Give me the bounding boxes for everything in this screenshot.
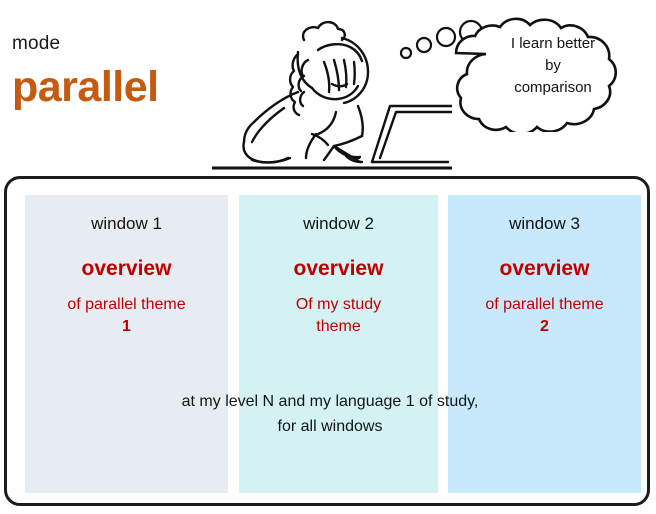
window-1-theme-number: 1 bbox=[29, 316, 224, 338]
window-2-heading: overview bbox=[239, 258, 438, 279]
window-3-heading: overview bbox=[448, 258, 641, 279]
window-panel-1[interactable]: window 1 overview of parallel theme 1 bbox=[25, 195, 228, 493]
window-2-sub-line-2: theme bbox=[243, 316, 434, 338]
window-2-sub-line: Of my study bbox=[296, 296, 381, 313]
windows-container: window 1 overview of parallel theme 1 wi… bbox=[4, 176, 650, 506]
thought-bubble-line-2: by bbox=[478, 55, 628, 77]
header: mode parallel bbox=[0, 0, 656, 175]
thought-bubble-line-1: I learn better bbox=[478, 33, 628, 55]
window-1-heading: overview bbox=[25, 258, 228, 279]
thought-bubble-line-3: comparison bbox=[478, 77, 628, 99]
windows-row: window 1 overview of parallel theme 1 wi… bbox=[7, 179, 647, 503]
window-3-title: window 3 bbox=[448, 215, 641, 232]
window-3-subtext: of parallel theme 2 bbox=[448, 294, 641, 338]
window-2-subtext: Of my study theme bbox=[239, 294, 438, 338]
mode-value: parallel bbox=[12, 66, 159, 109]
window-3-theme-number: 2 bbox=[452, 316, 637, 338]
window-1-subtext: of parallel theme 1 bbox=[25, 294, 228, 338]
window-panel-2[interactable]: window 2 overview Of my study theme bbox=[239, 195, 438, 493]
window-1-title: window 1 bbox=[25, 215, 228, 232]
window-1-sub-line: of parallel theme bbox=[67, 296, 185, 313]
window-2-title: window 2 bbox=[239, 215, 438, 232]
window-3-sub-line: of parallel theme bbox=[485, 296, 603, 313]
mode-label: mode bbox=[12, 34, 60, 53]
thought-bubble-text: I learn better by comparison bbox=[478, 33, 628, 99]
window-panel-3[interactable]: window 3 overview of parallel theme 2 bbox=[448, 195, 641, 493]
